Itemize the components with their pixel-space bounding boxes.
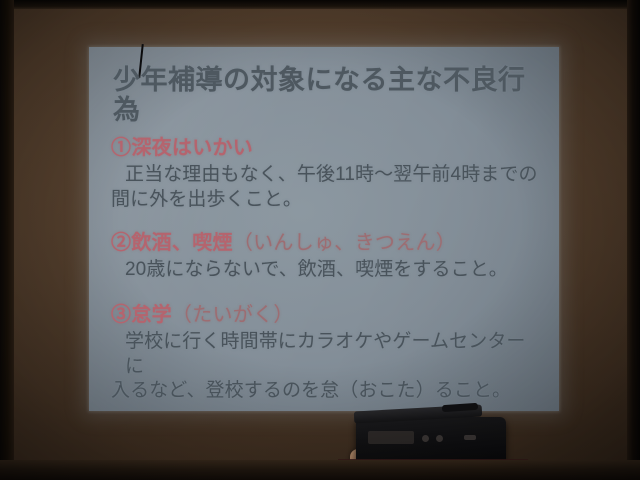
projector-button-3	[464, 435, 476, 440]
section-2-heading: ②飲酒、喫煙（いんしゅ、きつえん）	[105, 232, 543, 255]
section-1-body-line-1: 正当な理由もなく、午後11時〜翌午前4時までの	[111, 163, 543, 187]
photo-edge-top	[0, 0, 640, 9]
projector-device	[356, 417, 506, 465]
section-3-body-line-2: 入るなど、登校するのを怠（おこた）ること。	[111, 380, 511, 401]
section-2-heading-text: 飲酒、喫煙	[131, 232, 233, 254]
slide-section-2: ②飲酒、喫煙（いんしゅ、きつえん） 20歳にならないで、飲酒、喫煙をすること。	[105, 232, 543, 282]
slide-content: 少年補導の対象になる主な不良行為 ①深夜はいかい 正当な理由もなく、午後11時〜…	[89, 47, 559, 411]
slide-title: 少年補導の対象になる主な不良行為	[105, 66, 543, 125]
section-3-body: 学校に行く時間帯にカラオケやゲームセンターに 入るなど、登校するのを怠（おこた）…	[105, 330, 543, 403]
section-2-body: 20歳にならないで、飲酒、喫煙をすること。	[105, 258, 543, 282]
projection-screen: 少年補導の対象になる主な不良行為 ①深夜はいかい 正当な理由もなく、午後11時〜…	[89, 47, 559, 411]
section-3-heading: ③怠学（たいがく）	[105, 304, 543, 327]
section-2-body-line-1: 20歳にならないで、飲酒、喫煙をすること。	[111, 258, 543, 282]
photograph: 少年補導の対象になる主な不良行為 ①深夜はいかい 正当な理由もなく、午後11時〜…	[0, 0, 640, 480]
slide-section-1: ①深夜はいかい 正当な理由もなく、午後11時〜翌午前4時までの 間に外を出歩くこ…	[105, 137, 543, 212]
section-1-marker: ①	[111, 137, 131, 159]
photo-edge-right	[627, 0, 640, 480]
section-3-body-line-1: 学校に行く時間帯にカラオケやゲームセンターに	[111, 330, 543, 379]
section-3-marker: ③	[111, 304, 131, 326]
section-2-reading: （いんしゅ、きつえん）	[233, 232, 456, 254]
section-3-reading: （たいがく）	[172, 304, 294, 326]
section-3-heading-text: 怠学	[131, 304, 172, 326]
section-2-marker: ②	[111, 232, 131, 254]
projector-button-2	[436, 435, 443, 442]
section-1-heading: ①深夜はいかい	[105, 137, 543, 160]
photo-edge-bottom	[0, 460, 640, 480]
section-1-heading-text: 深夜はいかい	[131, 137, 253, 159]
projector-control-panel	[368, 431, 414, 444]
section-1-body-line-2: 間に外を出歩くこと。	[111, 189, 302, 210]
slide-section-3: ③怠学（たいがく） 学校に行く時間帯にカラオケやゲームセンターに 入るなど、登校…	[105, 304, 543, 403]
section-1-body: 正当な理由もなく、午後11時〜翌午前4時までの 間に外を出歩くこと。	[105, 163, 543, 212]
projector-button-1	[422, 435, 429, 442]
photo-edge-left	[0, 0, 14, 480]
